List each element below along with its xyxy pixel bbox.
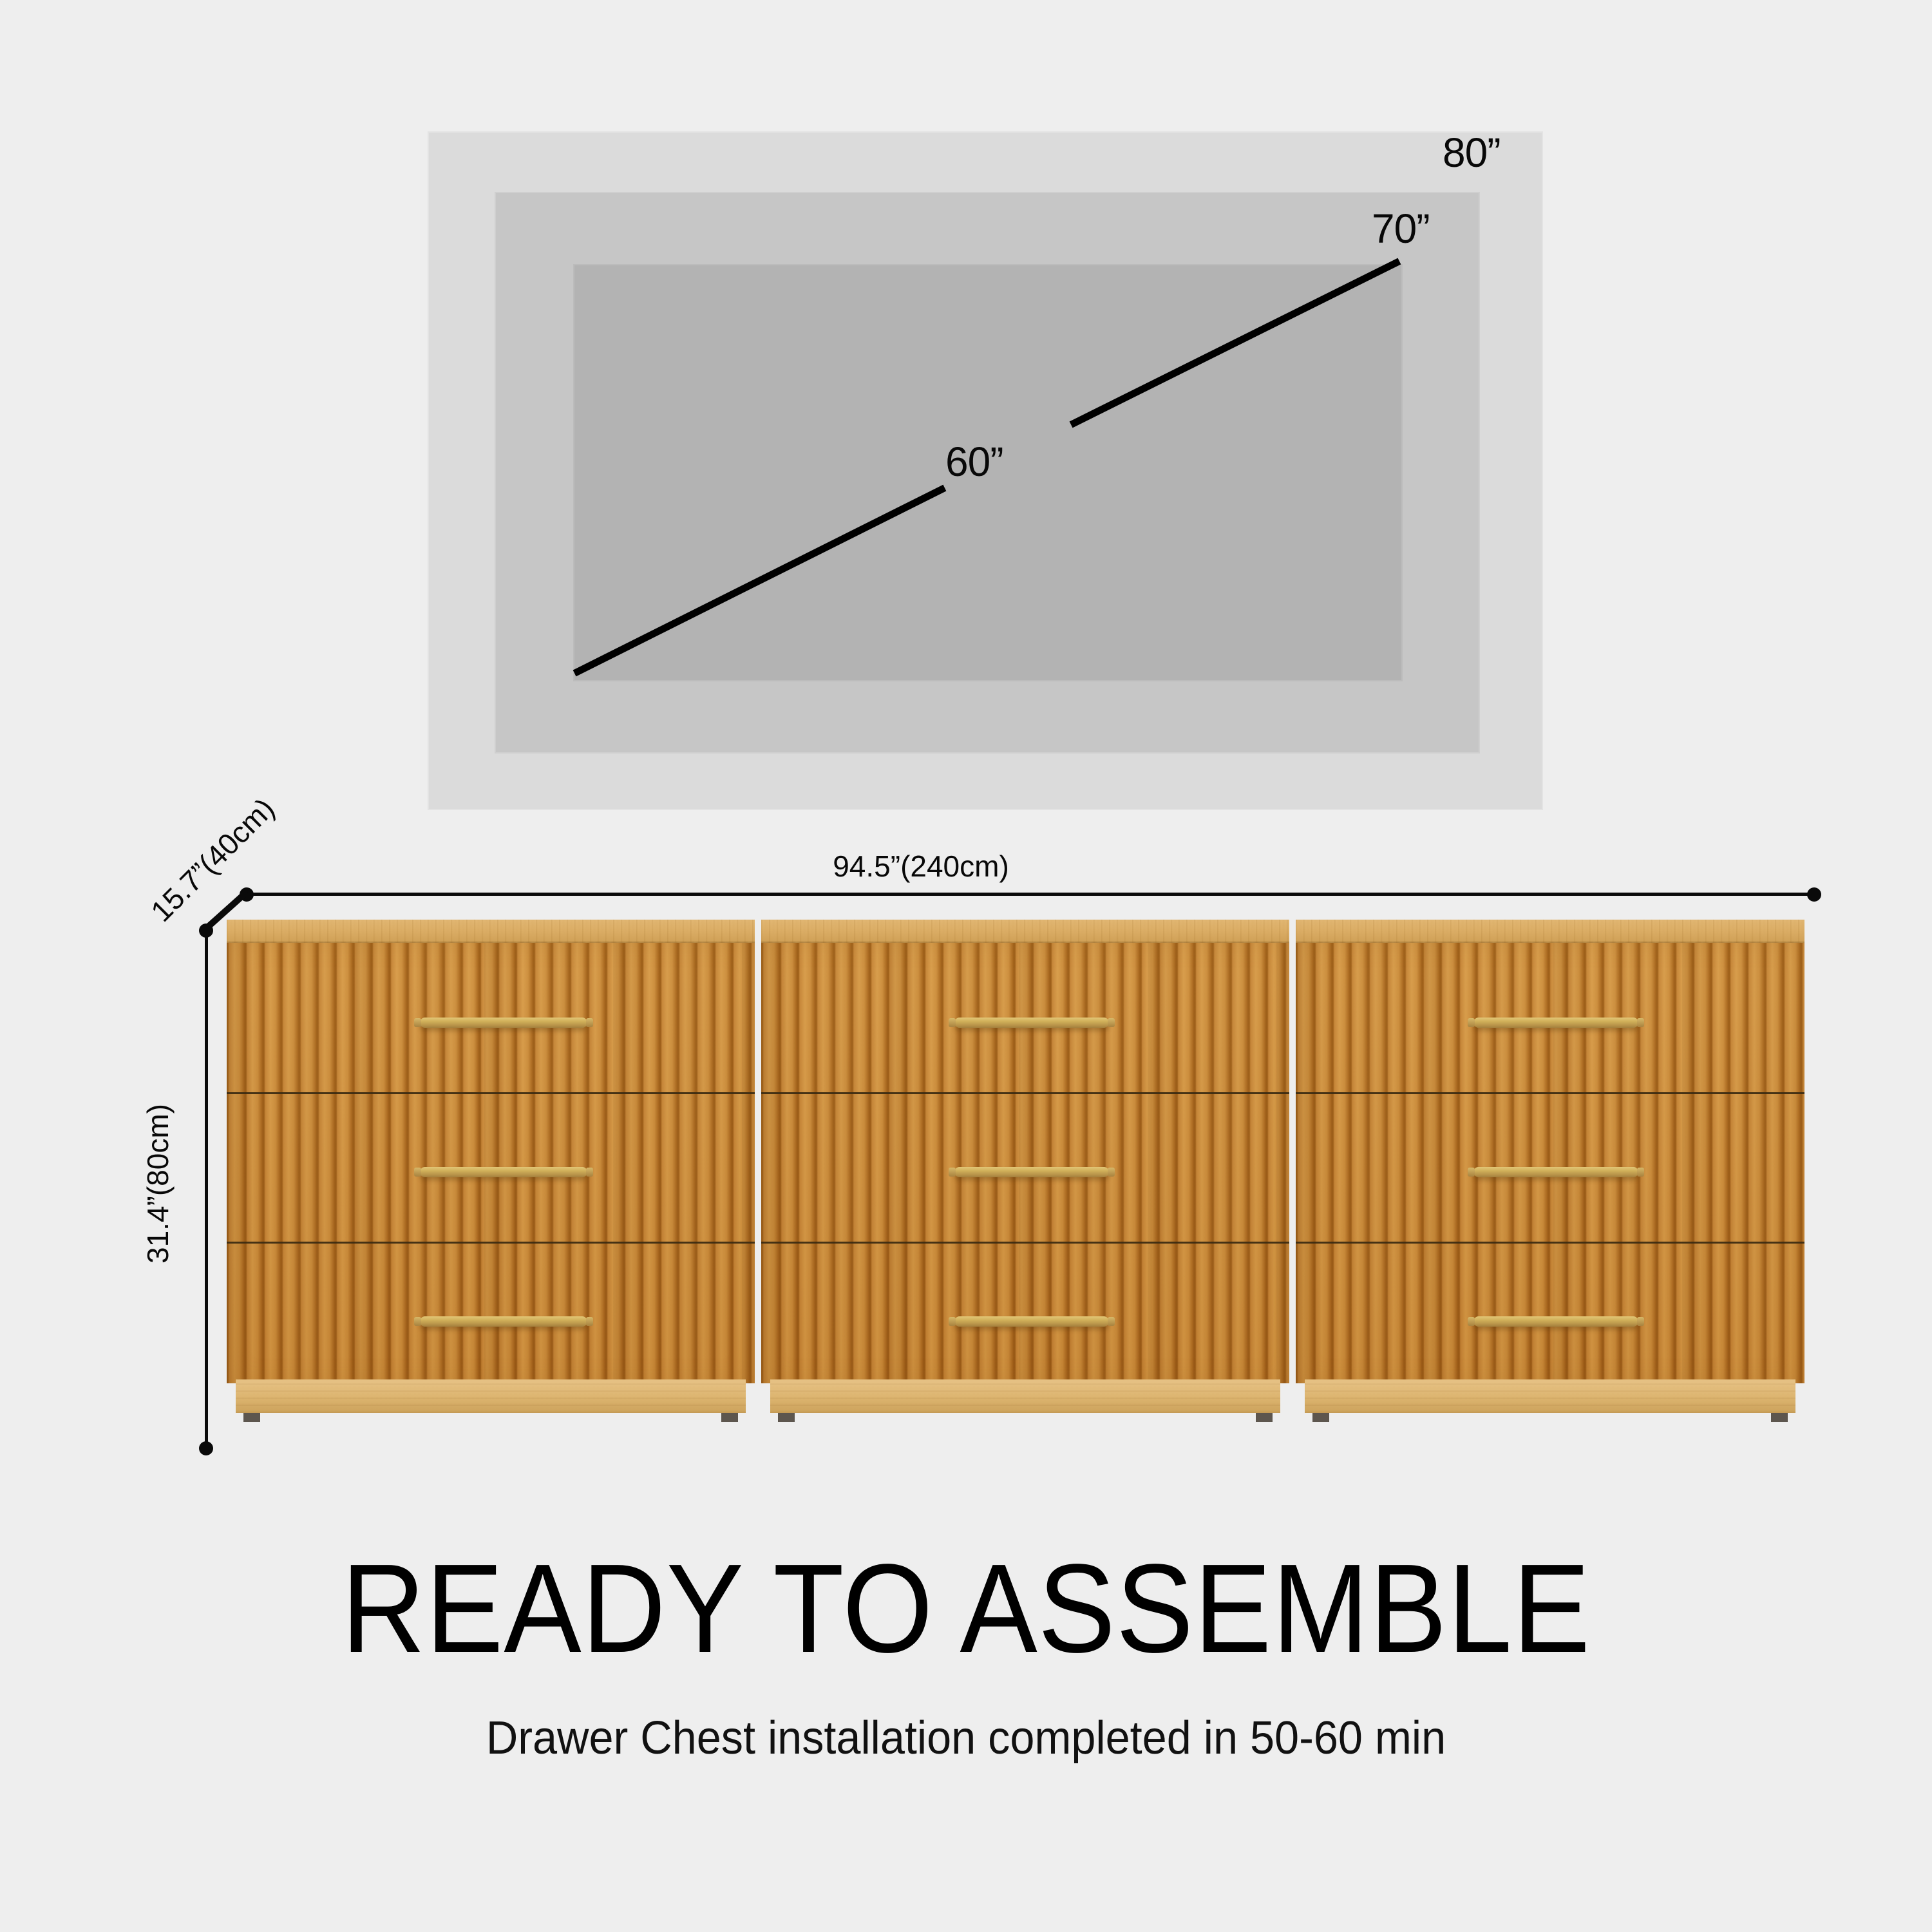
drawer-seam xyxy=(761,1242,1289,1244)
drawer-handle[interactable] xyxy=(1473,1316,1638,1327)
dresser-foot xyxy=(778,1413,795,1422)
drawer-seam xyxy=(1296,1242,1804,1244)
dresser-top-surface xyxy=(761,920,1289,943)
dresser-foot xyxy=(1771,1413,1788,1422)
drawer-seam xyxy=(761,1092,1289,1094)
drawer-handle[interactable] xyxy=(420,1018,587,1028)
dresser-unit-left xyxy=(227,920,755,1422)
drawer-handle[interactable] xyxy=(954,1316,1109,1327)
dresser-top-surface xyxy=(227,920,755,943)
height-dimension-endpoint xyxy=(199,923,213,938)
drawer-handle[interactable] xyxy=(954,1167,1109,1177)
drawer-handle[interactable] xyxy=(420,1167,587,1177)
drawer-seam xyxy=(227,1092,755,1094)
dresser-foot xyxy=(243,1413,260,1422)
dresser-plinth xyxy=(770,1379,1280,1413)
dresser-top-surface xyxy=(1296,920,1804,943)
width-dimension-endpoint xyxy=(1807,887,1821,902)
drawer-handle[interactable] xyxy=(1473,1167,1638,1177)
height-dimension-line xyxy=(205,929,208,1448)
dresser-drawer-fronts xyxy=(1296,943,1804,1383)
headline: READY TO ASSEMBLE xyxy=(77,1546,1855,1672)
width-dimension-line xyxy=(246,893,1820,896)
height-dimension-label: 31.4”(80cm) xyxy=(140,1104,175,1264)
dresser-foot xyxy=(721,1413,738,1422)
width-dimension-endpoint xyxy=(240,887,254,902)
drawer-handle[interactable] xyxy=(954,1018,1109,1028)
dresser-plinth xyxy=(236,1379,746,1413)
drawer-seam xyxy=(227,1242,755,1244)
dresser-plinth xyxy=(1305,1379,1795,1413)
subheadline: Drawer Chest installation completed in 5… xyxy=(48,1712,1884,1765)
dresser-unit-right xyxy=(1296,920,1804,1422)
drawer-seam xyxy=(1296,1092,1804,1094)
dresser-unit-center xyxy=(761,920,1289,1422)
dresser-drawer-fronts xyxy=(761,943,1289,1383)
height-dimension-endpoint xyxy=(199,1441,213,1455)
infographic-canvas: 80” 70” 60” xyxy=(0,0,1932,1932)
dresser-foot xyxy=(1312,1413,1329,1422)
width-dimension-label: 94.5”(240cm) xyxy=(833,849,1009,884)
drawer-handle[interactable] xyxy=(420,1316,587,1327)
dresser-drawer-fronts xyxy=(227,943,755,1383)
dresser-foot xyxy=(1256,1413,1273,1422)
drawer-handle[interactable] xyxy=(1473,1018,1638,1028)
